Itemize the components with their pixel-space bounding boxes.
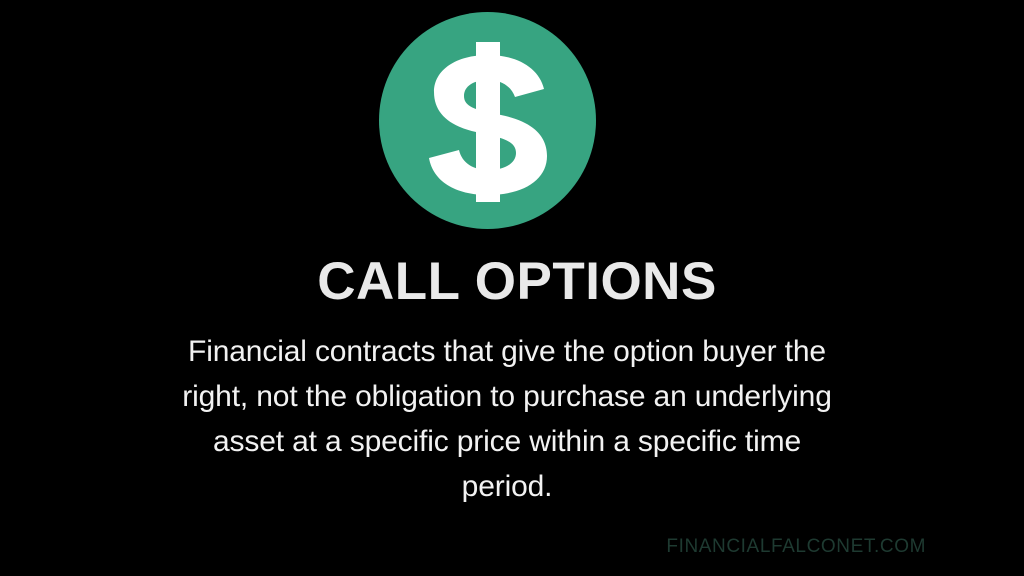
infographic-slide: CALL OPTIONS Financial contracts that gi… [0,0,1024,576]
definition-line: Financial contracts that give the option… [122,329,892,374]
watermark-source: FINANCIALFALCONET.COM [666,536,926,558]
definition-line: period. [122,464,892,509]
page-title: CALL OPTIONS [0,252,1024,312]
definition-text: Financial contracts that give the option… [122,329,892,509]
dollar-sign-icon [429,42,547,202]
dollar-badge [379,12,596,229]
definition-line: asset at a specific price within a speci… [122,419,892,464]
definition-line: right, not the obligation to purchase an… [122,374,892,419]
